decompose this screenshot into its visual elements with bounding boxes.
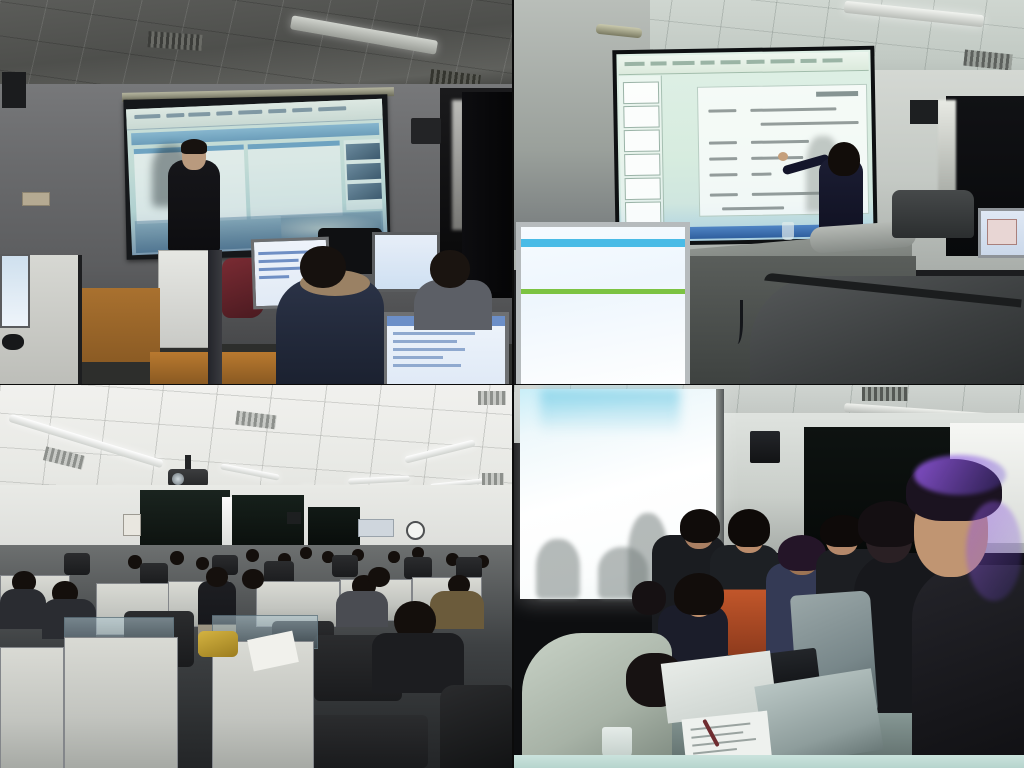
page-thumbnail-2 <box>347 163 382 180</box>
cubicle-partition-foreground <box>64 637 178 768</box>
dark-backpack <box>440 685 512 768</box>
wall-speaker-right-icon <box>411 118 441 144</box>
instructor-hand <box>778 152 788 161</box>
instructor-hair <box>828 142 860 176</box>
student-right-head <box>430 250 470 288</box>
student-head <box>368 567 390 587</box>
monitor-foreground-left <box>516 222 690 384</box>
student-foreground-head <box>300 246 346 288</box>
monitor-far-left <box>0 254 30 328</box>
photo-bottom-right[interactable] <box>514 385 1024 768</box>
wall-clock-icon <box>406 521 425 540</box>
crt-monitor <box>64 553 90 575</box>
slide-thumbnail-pane <box>619 75 665 224</box>
student-body <box>336 591 388 627</box>
student-head <box>300 547 312 559</box>
student-head <box>388 551 400 563</box>
student-foreground-body <box>372 633 464 693</box>
photo-top-right[interactable] <box>514 0 1024 384</box>
crt-monitor <box>140 563 168 585</box>
notice-board <box>358 519 394 537</box>
cubicle-divider <box>208 250 222 384</box>
wall-outlet-icon <box>22 192 50 206</box>
wall-speaker-icon <box>287 512 301 524</box>
page-thumbnail-1 <box>346 143 381 160</box>
hanging-cable <box>732 300 743 344</box>
photo-bottom-border <box>514 755 1024 768</box>
wall-speaker-icon <box>750 431 780 463</box>
cubicle-partition-foreground <box>0 647 64 768</box>
ceiling-air-vent-3 <box>478 391 506 405</box>
student-head <box>242 569 264 589</box>
photo-bottom-left[interactable] <box>0 385 512 768</box>
yellow-bag <box>198 631 238 657</box>
ceiling-air-vent <box>862 387 908 401</box>
crt-monitor <box>332 555 358 577</box>
wall-speaker-icon <box>910 100 938 124</box>
presenter-body <box>168 160 220 252</box>
student-body <box>430 591 484 629</box>
page-thumbnail-3 <box>347 183 382 200</box>
crt-monitor <box>404 557 432 579</box>
dark-curtain <box>462 92 512 292</box>
printer-equipment <box>892 190 974 238</box>
presenter-hair <box>181 139 207 154</box>
page-column-middle <box>248 141 343 220</box>
powerpoint-ribbon <box>618 52 868 75</box>
silhouette-on-screen <box>536 539 580 599</box>
standing-man-head <box>206 567 228 587</box>
projector-lens-icon <box>172 473 184 485</box>
blackboard <box>140 490 230 548</box>
screen-cyan-tint <box>540 389 680 435</box>
slide-title-text <box>816 91 858 97</box>
student-body <box>0 589 46 629</box>
dark-curtain-2 <box>308 507 360 549</box>
student-head <box>196 557 209 570</box>
photo-collage <box>0 0 1024 768</box>
wall-speaker-left-icon <box>2 72 26 108</box>
computer-mouse-icon <box>2 334 24 350</box>
student-head <box>170 551 184 565</box>
photo-top-left[interactable] <box>0 0 512 384</box>
drinking-glass <box>782 222 794 240</box>
framed-picture <box>123 514 141 536</box>
student-head <box>246 549 259 562</box>
ceiling-air-vent-4 <box>482 473 504 485</box>
monitor-far-right <box>978 208 1024 258</box>
